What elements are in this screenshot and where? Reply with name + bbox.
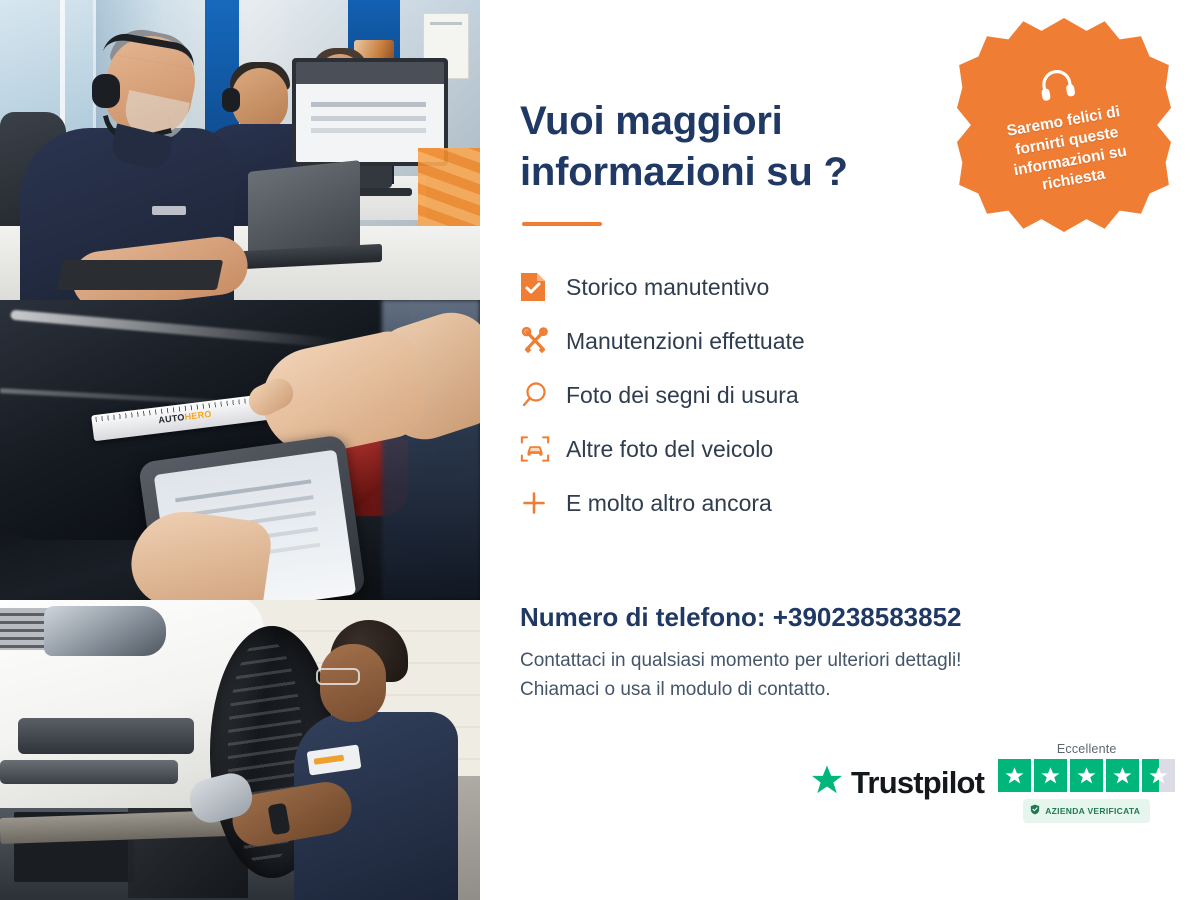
mechanic-figure (286, 620, 466, 900)
vehicle-inspection-photo: AUTOHERO (0, 300, 480, 600)
star-filled (1070, 759, 1103, 792)
car-headlight (44, 606, 166, 656)
bumper-vent-lower (0, 760, 178, 784)
shield-check-icon (1030, 802, 1040, 820)
call-center-agents-photo (0, 0, 480, 300)
bumper-vent-upper (18, 718, 194, 754)
magnifier-icon (520, 381, 566, 409)
star-filled (998, 759, 1031, 792)
phone-label: Numero di telefono: (520, 602, 766, 632)
list-item: Altre foto del veicolo (520, 422, 980, 476)
contact-copy-line-1: Contattaci in qualsiasi momento per ulte… (520, 647, 1140, 676)
keyboard (57, 260, 223, 290)
list-item: E molto altro ancora (520, 476, 980, 530)
page-title: Vuoi maggiori informazioni su ? (520, 96, 940, 198)
verified-label: AZIENDA VERIFICATA (1045, 806, 1140, 816)
star-half (1142, 759, 1175, 792)
contact-copy-line-2: Chiamaci o usa il modulo di contatto. (520, 676, 1140, 705)
star-rating (998, 759, 1175, 792)
feature-label: Altre foto del veicolo (566, 436, 773, 463)
badge-content: Saremo felici di fornirti queste informa… (940, 1, 1188, 249)
promo-banner: AUTOHERO (0, 0, 1200, 900)
star-filled (1106, 759, 1139, 792)
plus-icon (520, 489, 566, 517)
title-divider (522, 222, 602, 226)
trustpilot-star-icon (810, 764, 844, 802)
phone-line: Numero di telefono: +390238583852 (520, 602, 1200, 633)
headset-icon (1034, 63, 1081, 112)
car-scan-icon (520, 434, 566, 464)
headline-line-2: informazioni su ? (520, 150, 848, 194)
list-item: Foto dei segni di usura (520, 368, 980, 422)
contact-copy: Contattaci in qualsiasi momento per ulte… (520, 647, 1140, 705)
tools-cross-icon (520, 326, 566, 356)
feature-list: Storico manutentivo (520, 260, 980, 530)
star-filled (1034, 759, 1067, 792)
autohero-ruler-label: AUTOHERO (158, 409, 213, 425)
list-item: Manutenzioni effettuate (520, 314, 980, 368)
badge-text: Saremo felici di fornirti queste informa… (988, 100, 1149, 203)
feature-label: Manutenzioni effettuate (566, 328, 805, 355)
feature-label: E molto altro ancora (566, 490, 772, 517)
trustpilot-widget[interactable]: Trustpilot Eccellente (810, 742, 1175, 823)
feature-label: Storico manutentivo (566, 274, 769, 301)
document-check-icon (520, 272, 566, 302)
trustpilot-logo: Trustpilot (810, 764, 984, 802)
contact-block: Numero di telefono: +390238583852 Contat… (520, 602, 1200, 705)
trustpilot-wordmark: Trustpilot (851, 765, 984, 801)
callout-badge: Saremo felici di fornirti queste informa… (957, 18, 1171, 232)
rating-label: Eccellente (1057, 742, 1117, 756)
mechanic-wheel-photo (0, 600, 480, 900)
phone-number[interactable]: +390238583852 (773, 602, 962, 632)
content-panel: Vuoi maggiori informazioni su ? Storico … (480, 0, 1200, 900)
trustpilot-rating: Eccellente (998, 742, 1175, 823)
list-item: Storico manutentivo (520, 260, 980, 314)
photo-column: AUTOHERO (0, 0, 480, 900)
verified-badge: AZIENDA VERIFICATA (1023, 799, 1150, 823)
feature-label: Foto dei segni di usura (566, 382, 799, 409)
headline-line-1: Vuoi maggiori (520, 99, 783, 143)
